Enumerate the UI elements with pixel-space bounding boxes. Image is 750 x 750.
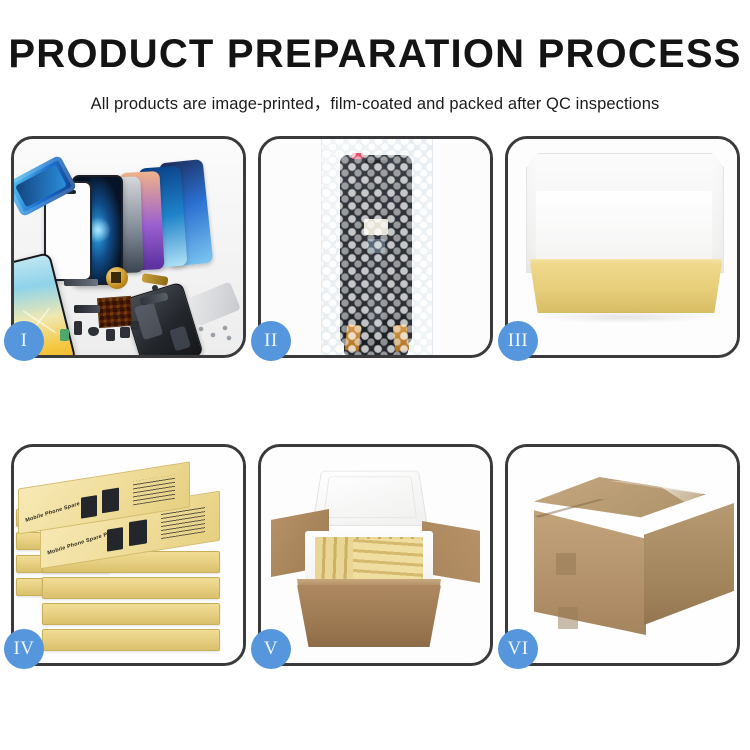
open-gold-box-scene [508, 139, 737, 355]
box-thumb-2a [107, 527, 123, 552]
small-part-6-icon [152, 285, 158, 291]
process-step-panel-5: V [258, 444, 493, 666]
qc-sticker-icon [352, 153, 363, 159]
foam-lid-icon [312, 471, 428, 526]
process-step-panel-1: I [11, 136, 246, 358]
process-step-grid: I II [11, 136, 741, 681]
step-badge-5: V [251, 629, 291, 669]
step-badge-6: VI [498, 629, 538, 669]
carton-front-face-icon [534, 505, 646, 635]
small-part-3-icon [106, 329, 115, 341]
stacked-box-r4 [42, 629, 220, 651]
process-step-panel-4: Mobile Phone Spare Parts Mobile Phone Sp… [11, 444, 246, 666]
step-6-image [508, 447, 737, 663]
step-1-image [14, 139, 243, 355]
step-badge-4: IV [4, 629, 44, 669]
box-thumb-2b [129, 519, 147, 546]
carton-side-face-icon [644, 503, 734, 625]
box-shadow [536, 311, 716, 323]
battery-part-icon [60, 329, 69, 341]
carton-with-foam-scene [261, 447, 490, 663]
box-spec-2 [161, 506, 205, 539]
box-thumb-1b [102, 488, 119, 514]
carton-patch-1-icon [556, 553, 576, 575]
small-part-2-icon [88, 327, 99, 336]
page-subtitle: All products are image-printed，film-coat… [0, 74, 750, 114]
gold-boxes-inner-2-icon [353, 539, 423, 579]
carton-body-icon [297, 585, 441, 647]
gold-box-front-icon [530, 263, 722, 313]
step-badge-3: III [498, 321, 538, 361]
header: PRODUCT PREPARATION PROCESS All products… [0, 0, 750, 114]
step-5-image [261, 447, 490, 663]
step-4-image: Mobile Phone Spare Parts Mobile Phone Sp… [14, 447, 243, 663]
phone-parts-scene [14, 139, 243, 355]
product-preparation-infographic: PRODUCT PREPARATION PROCESS All products… [0, 0, 750, 750]
box-stack: Mobile Phone Spare Parts Mobile Phone Sp… [14, 447, 243, 663]
step-badge-2: II [251, 321, 291, 361]
page-title: PRODUCT PREPARATION PROCESS [0, 0, 750, 74]
carton-patch-2-icon [558, 607, 578, 629]
flex-cable-4-icon [74, 305, 100, 313]
step-3-image [508, 139, 737, 355]
sealed-carton-scene [508, 447, 737, 663]
lcd-driver-chip-icon [367, 239, 385, 253]
stacked-gold-boxes-scene: Mobile Phone Spare Parts Mobile Phone Sp… [14, 447, 243, 663]
chip-grid-icon [97, 296, 133, 328]
small-part-4-icon [120, 327, 130, 338]
process-step-panel-2: II [258, 136, 493, 358]
small-part-5-icon [132, 321, 139, 330]
stacked-box-r3 [42, 603, 220, 625]
box-spec-1 [133, 475, 175, 506]
process-step-panel-3: III [505, 136, 740, 358]
foam-padding-icon [536, 191, 712, 269]
screws-icon [195, 323, 235, 343]
lcd-connector-icon [364, 219, 388, 235]
step-2-image [261, 139, 490, 355]
step-badge-1: I [4, 321, 44, 361]
speaker-module-icon [106, 267, 128, 289]
flex-cable-1-icon [64, 279, 98, 286]
box-thumb-1a [81, 495, 97, 519]
bubble-wrapped-screen-scene [261, 139, 490, 355]
gold-tab-right-icon [392, 324, 409, 351]
small-part-1-icon [74, 321, 82, 335]
repair-tool-icon [187, 281, 241, 326]
process-step-panel-6: VI [505, 444, 740, 666]
stacked-box-r2 [42, 577, 220, 599]
gold-tab-left-icon [344, 324, 361, 351]
